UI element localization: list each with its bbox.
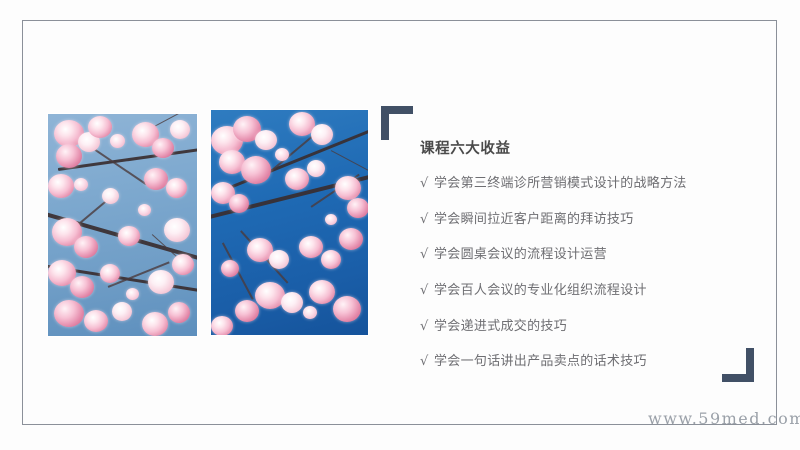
page-title: 课程六大收益 [420, 140, 760, 159]
check-icon: √ [420, 211, 434, 229]
check-icon: √ [420, 318, 434, 336]
list-item-label: 学会圆桌会议的流程设计运营 [434, 246, 607, 264]
check-icon: √ [420, 175, 434, 193]
benefits-list: √ 学会第三终端诊所营销模式设计的战略方法 √ 学会瞬间拉近客户距离的拜访技巧 … [420, 175, 760, 372]
list-item-label: 学会递进式成交的技巧 [434, 318, 567, 336]
list-item-label: 学会一句话讲出产品卖点的话术技巧 [434, 353, 647, 371]
corner-bracket-top-left-icon [381, 106, 413, 140]
check-icon: √ [420, 246, 434, 264]
check-icon: √ [420, 353, 434, 371]
list-item: √ 学会一句话讲出产品卖点的话术技巧 [420, 353, 760, 371]
text-content-block: 课程六大收益 √ 学会第三终端诊所营销模式设计的战略方法 √ 学会瞬间拉近客户距… [420, 140, 760, 389]
photo-cherry-blossom-right [211, 110, 368, 335]
list-item-label: 学会百人会议的专业化组织流程设计 [434, 282, 647, 300]
list-item: √ 学会圆桌会议的流程设计运营 [420, 246, 760, 264]
list-item: √ 学会瞬间拉近客户距离的拜访技巧 [420, 211, 760, 229]
list-item-label: 学会第三终端诊所营销模式设计的战略方法 [434, 175, 687, 193]
presentation-slide: 课程六大收益 √ 学会第三终端诊所营销模式设计的战略方法 √ 学会瞬间拉近客户距… [0, 0, 800, 450]
list-item: √ 学会第三终端诊所营销模式设计的战略方法 [420, 175, 760, 193]
list-item: √ 学会百人会议的专业化组织流程设计 [420, 282, 760, 300]
photo-cherry-blossom-left [48, 114, 197, 336]
watermark: www.59med.com [648, 409, 800, 428]
list-item-label: 学会瞬间拉近客户距离的拜访技巧 [434, 211, 634, 229]
list-item: √ 学会递进式成交的技巧 [420, 318, 760, 336]
photo-group [48, 110, 368, 335]
check-icon: √ [420, 282, 434, 300]
